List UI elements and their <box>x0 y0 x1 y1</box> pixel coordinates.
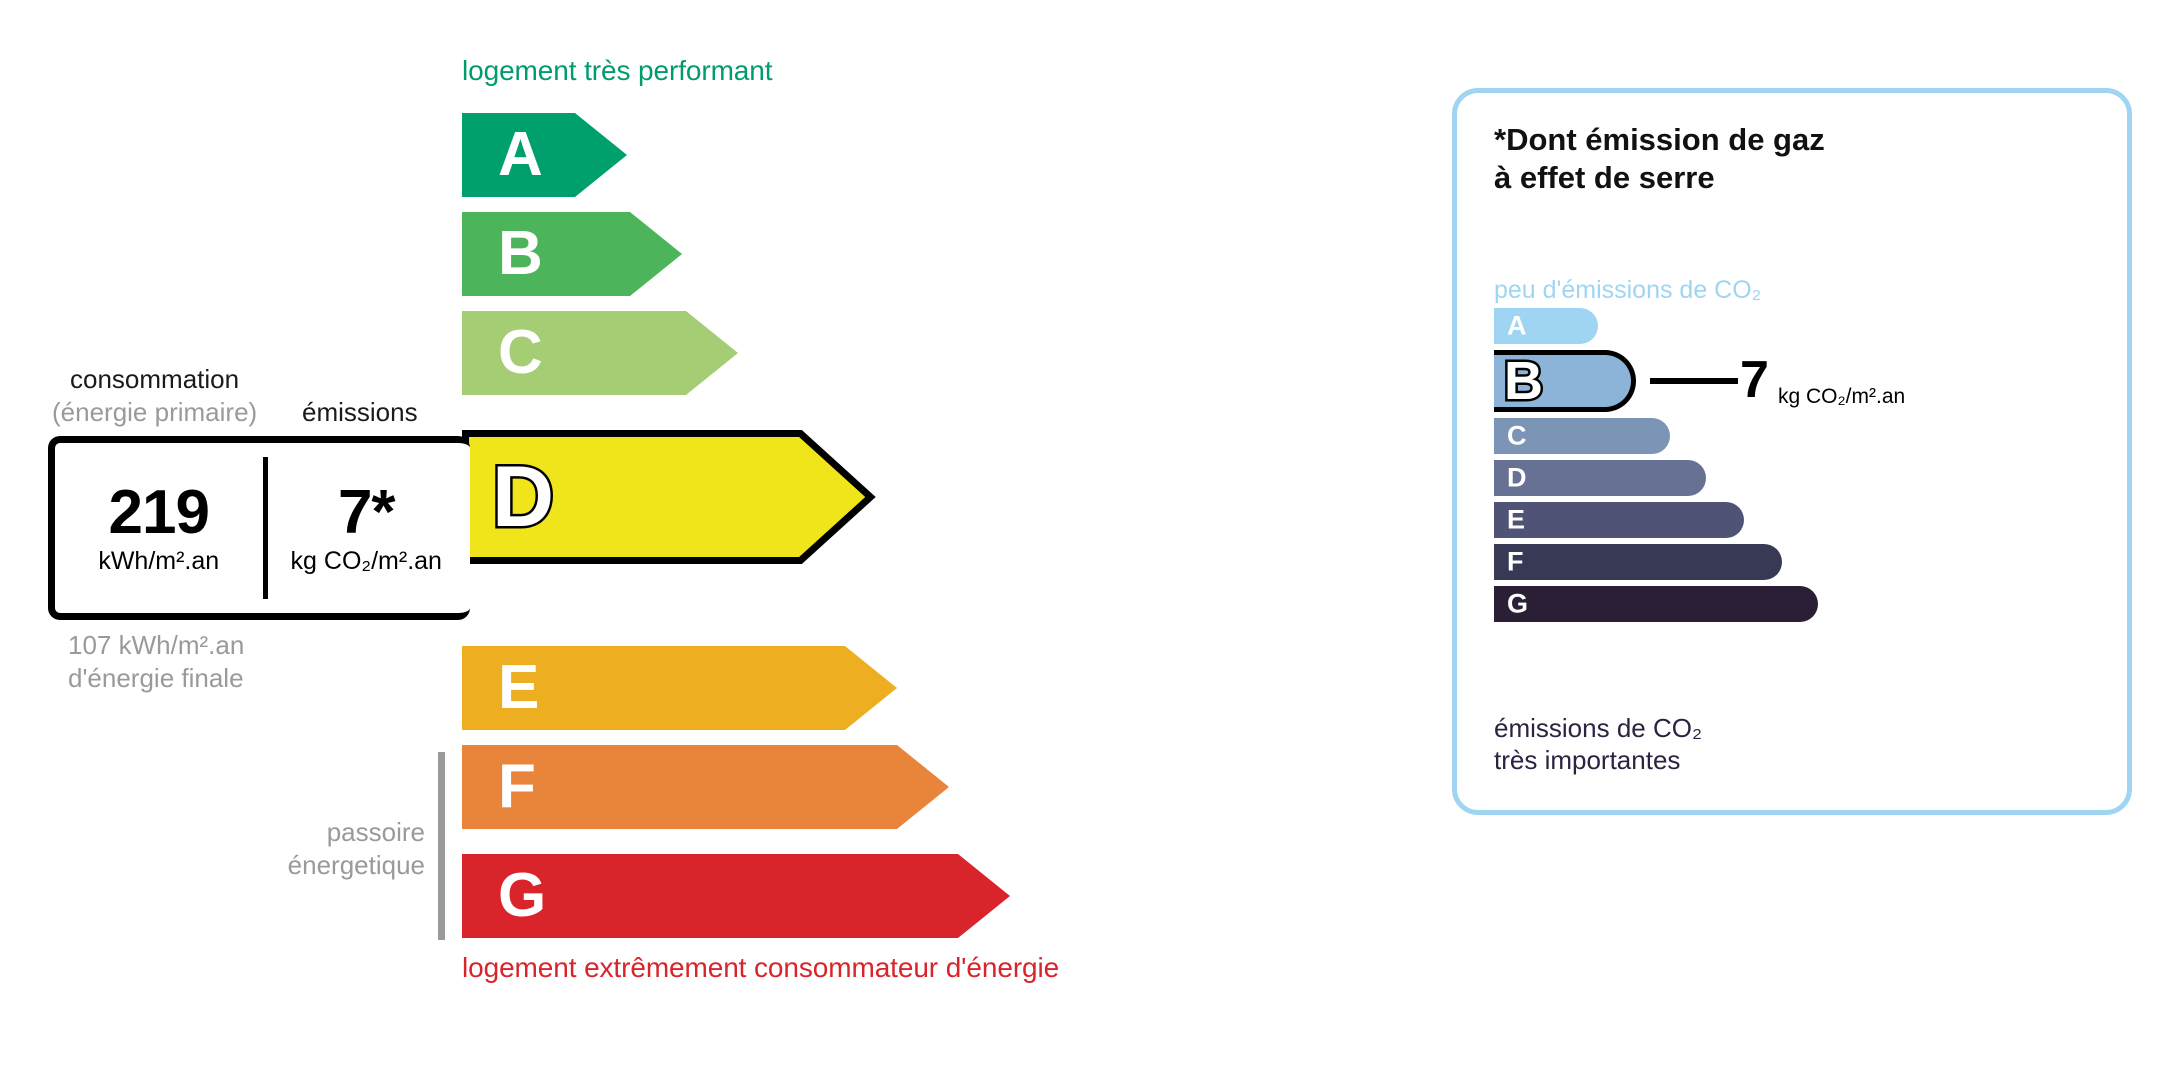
co2-emissions-panel: *Dont émission de gaz à effet de serre p… <box>1452 88 2132 815</box>
primary-energy-cell: 219 kWh/m².an <box>55 443 263 613</box>
co2-bar-letter-a: A <box>1507 313 1527 340</box>
energy-bar-letter-f: F <box>498 756 536 818</box>
energy-bar-f[interactable]: F <box>462 745 949 829</box>
co2-bar-letter-f: F <box>1507 549 1524 576</box>
co2-bottom-caption: émissions de CO₂ très importantes <box>1494 713 1702 776</box>
energy-bar-letter-e: E <box>498 657 539 719</box>
co2-panel-title: *Dont émission de gaz à effet de serre <box>1494 121 1825 197</box>
final-energy-note: 107 kWh/m².an d'énergie finale <box>68 629 244 696</box>
co2-bar-list: AB7kg CO₂/m².anCDEFG <box>1494 308 2094 628</box>
co2-bottom-line2: très importantes <box>1494 745 1702 777</box>
passoire-label: passoire énergetique <box>270 816 425 883</box>
co2-title-line2: à effet de serre <box>1494 159 1825 197</box>
co2-bar-letter-c: C <box>1507 423 1527 450</box>
co2-bar-c[interactable]: C <box>1494 418 2094 454</box>
energy-bar-letter-c: C <box>498 322 543 384</box>
co2-bar-fill-g <box>1494 586 1818 622</box>
energy-bar-letter-d: D <box>492 454 554 540</box>
co2-bar-a[interactable]: A <box>1494 308 2094 344</box>
co2-bar-letter-e: E <box>1507 507 1525 534</box>
emission-value: 7* <box>338 480 395 545</box>
primary-energy-value: 219 <box>109 480 209 545</box>
energy-bar-e[interactable]: E <box>462 646 897 730</box>
co2-bar-fill-f <box>1494 544 1782 580</box>
energy-bar-letter-a: A <box>498 124 543 186</box>
energy-bar-letter-g: G <box>498 865 546 927</box>
co2-bar-d[interactable]: D <box>1494 460 2094 496</box>
energy-bar-c[interactable]: C <box>462 311 738 395</box>
passoire-line1: passoire <box>270 816 425 849</box>
co2-bar-letter-d: D <box>1507 465 1527 492</box>
energy-bar-shape-b <box>462 212 682 296</box>
consumption-header-label: consommation <box>70 364 239 395</box>
co2-title-line1: *Dont émission de gaz <box>1494 121 1825 159</box>
passoire-line2: énergetique <box>270 849 425 882</box>
co2-callout-unit: kg CO₂/m².an <box>1778 385 1905 409</box>
energy-bar-letter-b: B <box>498 223 543 285</box>
emission-value-cell: 7* kg CO₂/m².an <box>263 443 471 613</box>
co2-bar-g[interactable]: G <box>1494 586 2094 622</box>
energy-bar-b[interactable]: B <box>462 212 682 296</box>
co2-bar-b[interactable]: B7kg CO₂/m².an <box>1494 350 2094 412</box>
co2-callout-connector <box>1650 378 1738 384</box>
consumption-header-sublabel: (énergie primaire) <box>52 397 257 428</box>
co2-bar-fill-e <box>1494 502 1744 538</box>
co2-bar-e[interactable]: E <box>1494 502 2094 538</box>
co2-callout-value: 7 <box>1740 354 1769 406</box>
energy-bar-a[interactable]: A <box>462 113 627 197</box>
energy-performance-scale: logement très performant ABCDEFG consomm… <box>0 0 1400 1079</box>
co2-bottom-line1: émissions de CO₂ <box>1494 713 1702 745</box>
co2-bar-letter-g: G <box>1507 591 1528 618</box>
current-rating-box: 219 kWh/m².an 7* kg CO₂/m².an <box>48 436 470 620</box>
energy-bar-shape-a <box>462 113 627 197</box>
final-energy-line1: 107 kWh/m².an <box>68 629 244 662</box>
energy-bar-d[interactable]: D <box>462 430 874 564</box>
energy-bottom-caption: logement extrêmement consommateur d'éner… <box>462 952 1059 984</box>
emissions-header-label: émissions <box>302 397 418 428</box>
primary-energy-unit: kWh/m².an <box>98 547 219 576</box>
final-energy-line2: d'énergie finale <box>68 662 244 695</box>
passoire-bracket <box>438 752 445 940</box>
dpe-label: logement très performant ABCDEFG consomm… <box>0 0 2170 1079</box>
co2-top-caption: peu d'émissions de CO₂ <box>1494 276 1761 305</box>
co2-bar-f[interactable]: F <box>1494 544 2094 580</box>
co2-bar-letter-b: B <box>1504 354 1543 408</box>
energy-bar-g[interactable]: G <box>462 854 1010 938</box>
emission-unit: kg CO₂/m².an <box>291 547 442 576</box>
